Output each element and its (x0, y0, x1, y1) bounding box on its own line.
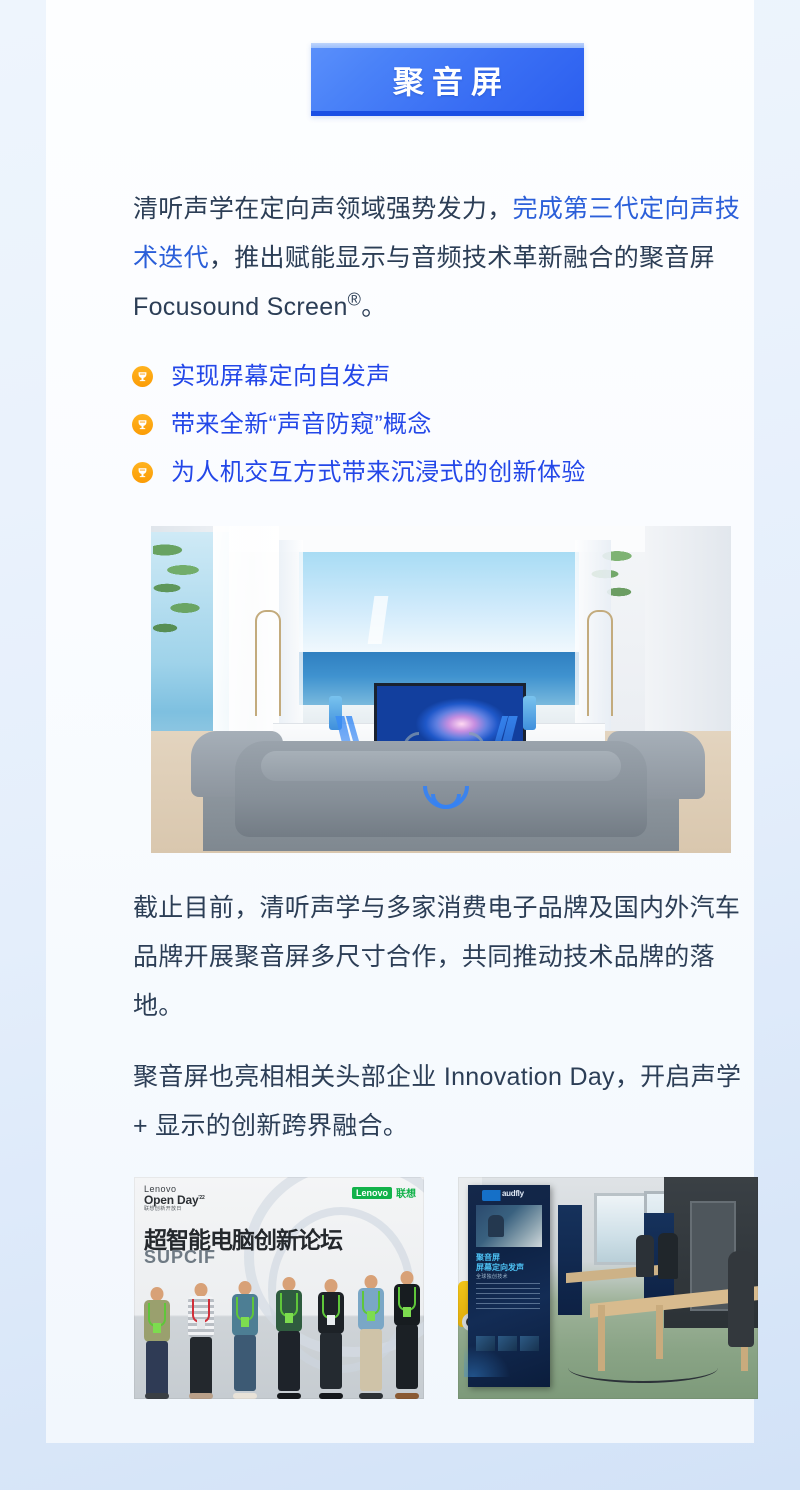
goblet-icon (132, 462, 153, 483)
feature-label: 实现屏幕定向自发声 (171, 365, 391, 389)
sky (299, 552, 579, 652)
phone-right (523, 696, 536, 730)
feature-label: 带来全新“声音防窥”概念 (171, 413, 432, 437)
feature-label: 为人机交互方式带来沉浸式的创新体验 (171, 461, 586, 485)
innovation-paragraph: 聚音屏也亮相相关头部企业 Innovation Day，开启声学 + 显示的创新… (133, 1053, 763, 1151)
list-item: 带来全新“声音防窥”概念 (132, 406, 752, 443)
content-card: 聚音屏 清听声学在定向声领域强势发力，完成第三代定向声技术迭代，推出赋能显示与音… (46, 0, 754, 1443)
page-title: 聚音屏 (311, 43, 584, 116)
goblet-icon (132, 414, 153, 435)
goblet-icon (132, 366, 153, 387)
hero-livingroom-image (151, 526, 731, 853)
photo-border (458, 1177, 758, 1399)
palm-tree-left (153, 536, 211, 666)
sofa-seat (261, 751, 621, 781)
floor-lamp-right (587, 610, 613, 716)
floor-lamp-left (255, 610, 281, 716)
list-item: 实现屏幕定向自发声 (132, 358, 752, 395)
lenovo-open-day-photo: Lenovo Open Day'22 联想创新开放日 Lenovo 联想 超智能… (134, 1177, 424, 1399)
list-item: 为人机交互方式带来沉浸式的创新体验 (132, 454, 752, 491)
curtain-middle-left (279, 540, 303, 730)
expo-booth-photo: audfly 聚音屏 屏幕定向发声 全球独创技术 (458, 1177, 758, 1399)
photo-border (134, 1177, 424, 1399)
intro-text-part1: 清听声学在定向声领域强势发力， (133, 195, 513, 223)
intro-paragraph: 清听声学在定向声领域强势发力，完成第三代定向声技术迭代，推出赋能显示与音频技术革… (133, 185, 763, 332)
intro-text-part2: ，推出赋能显示与音频技术革新融合的聚音屏 Focusound Screen (133, 244, 715, 321)
page-title-badge: 聚音屏 (311, 43, 584, 116)
intro-text-part3: 。 (361, 293, 386, 321)
registered-mark: ® (348, 290, 362, 310)
feature-list: 实现屏幕定向自发声 带来全新“声音防窥”概念 为人机交互方式带来沉浸式的创新体验 (132, 358, 752, 502)
scale-paragraph: 截止目前，清听声学与多家消费电子品牌及国内外汽车品牌开展聚音屏多尺寸合作，共同推… (133, 884, 763, 1031)
